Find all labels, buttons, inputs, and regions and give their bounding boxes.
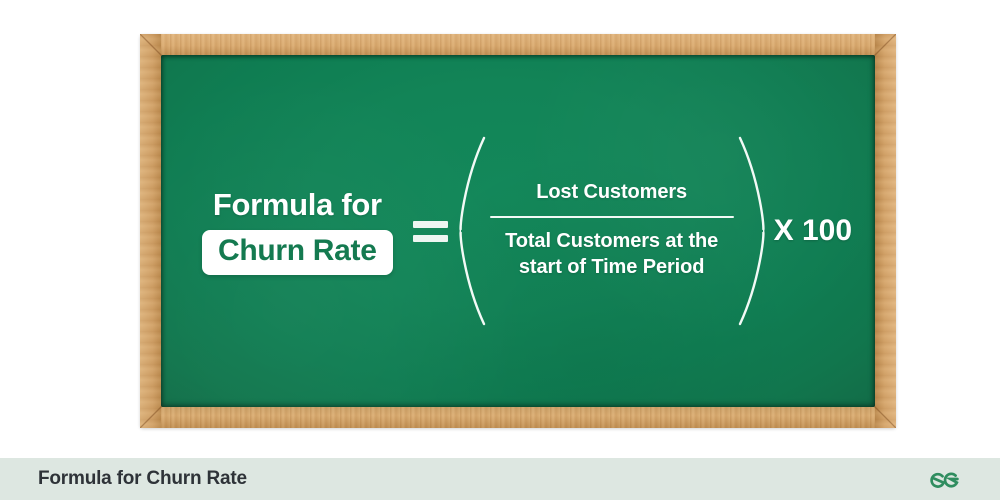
multiplier-label: X 100 — [774, 214, 852, 248]
chalkboard-green-surface: Formula for Churn Rate Lost Customers — [161, 55, 875, 407]
chalkboard-wooden-frame: Formula for Churn Rate Lost Customers — [140, 34, 896, 428]
footer-bar: Formula for Churn Rate — [0, 458, 1000, 500]
equals-bar-bottom — [413, 235, 448, 242]
geeksforgeeks-logo-icon[interactable] — [922, 467, 970, 491]
fraction-denominator-line1: Total Customers at the — [505, 229, 718, 255]
footer-caption: Formula for Churn Rate — [38, 468, 247, 490]
frame-rail-top — [140, 34, 896, 55]
frame-rail-bottom — [140, 407, 896, 428]
formula-left-side: Formula for Churn Rate — [202, 187, 393, 275]
frame-rail-right — [875, 34, 896, 428]
equals-sign — [413, 221, 448, 242]
bracketed-fraction: Lost Customers Total Customers at the st… — [462, 181, 762, 280]
frame-rail-left — [140, 34, 161, 428]
image-canvas: Formula for Churn Rate Lost Customers — [0, 0, 1000, 500]
fraction: Lost Customers Total Customers at the st… — [488, 181, 736, 280]
fraction-numerator: Lost Customers — [536, 181, 687, 216]
left-parenthesis-icon — [456, 135, 490, 327]
fraction-denominator: Total Customers at the start of Time Per… — [505, 218, 718, 280]
formula-for-label: Formula for — [213, 187, 382, 223]
fraction-denominator-line2: start of Time Period — [505, 255, 718, 281]
churn-rate-formula: Formula for Churn Rate Lost Customers — [161, 55, 875, 407]
churn-rate-chip: Churn Rate — [202, 230, 393, 275]
equals-bar-top — [413, 221, 448, 228]
right-parenthesis-icon — [734, 135, 768, 327]
